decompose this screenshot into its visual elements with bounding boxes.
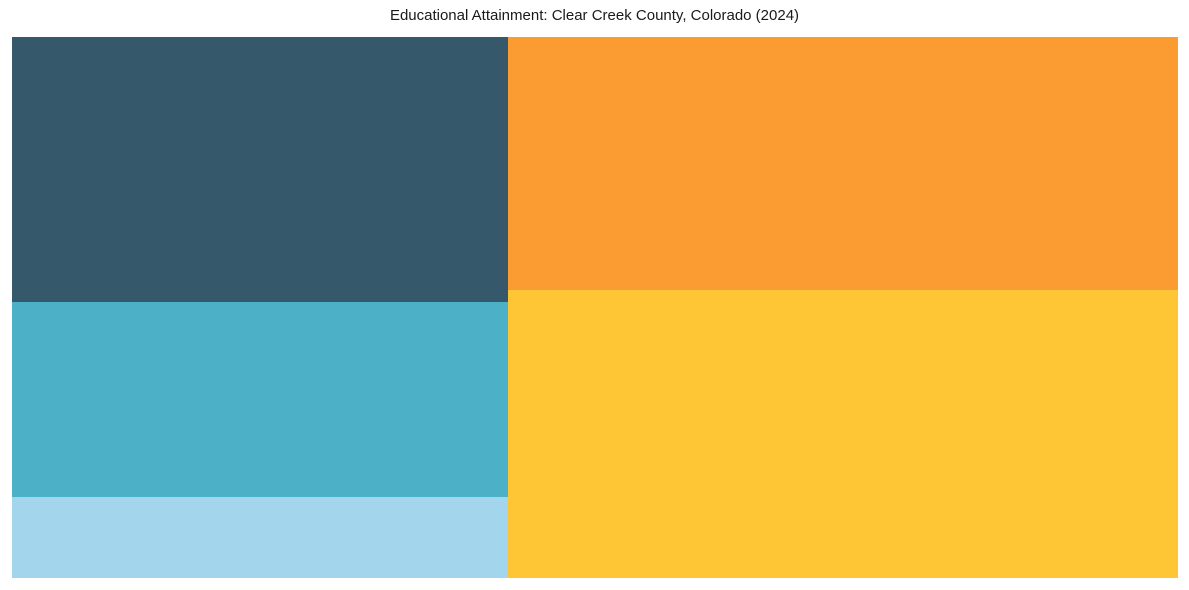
mosaic-tile-cyan[interactable] [12, 302, 508, 497]
chart-title: Educational Attainment: Clear Creek Coun… [0, 6, 1189, 26]
mosaic-tile-yellow[interactable] [508, 290, 1178, 578]
mosaic-column-1 [12, 37, 508, 578]
chart-figure: Educational Attainment: Clear Creek Coun… [0, 0, 1189, 590]
mosaic-plot-area [12, 37, 1178, 578]
mosaic-column-2 [508, 37, 1178, 578]
mosaic-tile-orange[interactable] [508, 37, 1178, 290]
mosaic-tile-dark-slate[interactable] [12, 37, 508, 302]
mosaic-tile-light-blue[interactable] [12, 497, 508, 578]
